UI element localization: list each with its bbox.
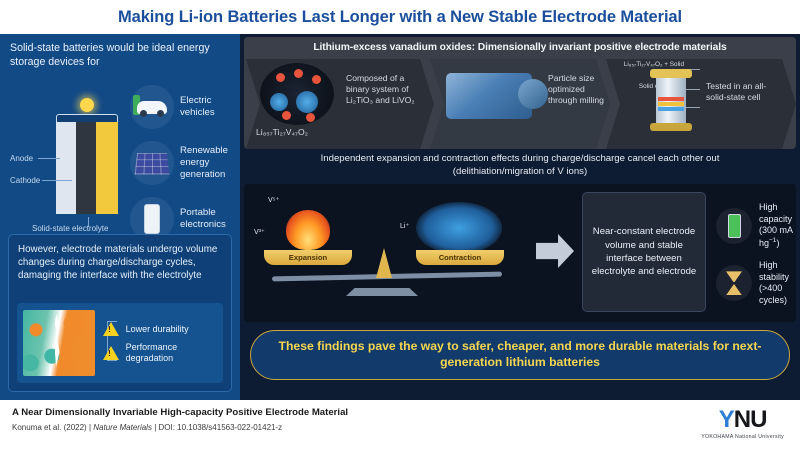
left-panel: Solid-state batteries would be ideal ene…	[0, 34, 240, 400]
ynu-logo-text: YNU	[701, 408, 784, 432]
contraction-structure-icon	[416, 202, 502, 254]
battery-electrolyte-layer	[76, 122, 96, 214]
benefit-value: (>400 cycles)	[759, 283, 796, 306]
anode-label: Anode	[10, 154, 33, 163]
ynu-logo-nu: NU	[734, 406, 767, 433]
anode-leader-line	[38, 158, 60, 159]
flow-arrow-icon	[536, 234, 574, 268]
lightbulb-icon	[80, 98, 94, 112]
footer: A Near Dimensionally Invariable High-cap…	[0, 400, 800, 450]
ynu-logo-subtitle: YOKOHAMA National University	[701, 434, 784, 440]
issue-item-performance-degradation: Performance degradation	[103, 342, 217, 364]
expansion-structure-icon	[286, 210, 330, 250]
flow-step-caption: Tested in an all-solid-state cell	[706, 81, 774, 103]
warning-triangle-icon	[103, 346, 119, 360]
scale-pan-expansion: Expansion	[264, 250, 352, 265]
battery-cathode-layer	[96, 122, 118, 214]
paper-title: A Near Dimensionally Invariable High-cap…	[12, 407, 788, 418]
problem-text: However, electrode materials undergo vol…	[18, 243, 222, 282]
left-panel-heading: Solid-state batteries would be ideal ene…	[10, 42, 230, 70]
battery-icon	[716, 208, 752, 244]
flow-step-milling: Particle size optimized through milling	[430, 59, 610, 149]
citation-journal: Nature Materials	[93, 423, 152, 432]
issue-label: Performance degradation	[126, 342, 217, 364]
infographic-stage: Solid-state batteries would be ideal ene…	[0, 34, 800, 400]
flow-step-cell-test: Li₈₅₇Ti₂₇V₄₇O₂ + Solid electrolyte Solid…	[606, 59, 796, 149]
cell-top-cap	[650, 69, 692, 78]
citation-line: Konuma et al. (2022) | Nature Materials …	[12, 423, 788, 432]
application-item-renewable-energy: Renewable energy generation	[130, 138, 240, 188]
mechanism-heading: Independent expansion and contraction ef…	[244, 153, 796, 179]
oxygen-atom-icon	[282, 111, 291, 120]
cell-bottom-cap	[650, 123, 692, 131]
cell-layer-stripe	[658, 97, 684, 101]
synthesis-band: Lithium-excess vanadium oxides: Dimensio…	[244, 37, 796, 149]
cell-layer-stripe	[658, 102, 684, 106]
warning-triangle-icon	[103, 322, 119, 336]
car-body-icon	[137, 101, 167, 114]
citation-separator: |	[154, 423, 156, 432]
ion-label-v5: V⁵⁺	[268, 196, 279, 205]
scale-base	[346, 288, 418, 296]
conclusion-banner: These findings pave the way to safer, ch…	[250, 330, 790, 380]
crack-icon	[55, 314, 60, 367]
flow-step-caption: Composed of a binary system of Li₂TiO₃ a…	[346, 73, 424, 107]
issue-list: Lower durability Performance degradation	[103, 316, 217, 370]
battery-body	[56, 122, 118, 214]
result-box: Near-constant electrode volume and stabl…	[582, 192, 706, 312]
citation-separator: |	[89, 423, 91, 432]
citation-doi[interactable]: DOI: 10.1038/s41563-022-01421-z	[159, 423, 283, 432]
application-list: Electric vehicles Renewable energy gener…	[130, 82, 240, 250]
vanadium-polyhedron-icon	[296, 91, 318, 113]
oxygen-atom-icon	[306, 113, 315, 122]
application-label: Renewable energy generation	[180, 145, 240, 181]
title-bar: Making Li-ion Batteries Last Longer with…	[0, 0, 800, 34]
ion-label-li: Li⁺	[400, 222, 409, 231]
cathode-label: Cathode	[10, 176, 40, 185]
application-item-electric-vehicles: Electric vehicles	[130, 82, 240, 132]
benefit-high-capacity: High capacity (300 mA hg−1)	[716, 202, 796, 250]
flow-step-composition: Li₈₅₇Ti₂₇V₄₇O₂ Composed of a binary syst…	[246, 59, 434, 149]
right-area: Lithium-excess vanadium oxides: Dimensio…	[240, 34, 800, 400]
problem-card: However, electrode materials undergo vol…	[8, 234, 232, 392]
vanadium-polyhedron-icon	[270, 93, 288, 111]
mechanism-panel: V⁵⁺ V³⁺ Li⁺ Expansion Contraction Near-c…	[244, 184, 796, 322]
ion-label-v3: V³⁺	[254, 228, 265, 237]
benefit-text: High stability (>400 cycles)	[759, 260, 796, 307]
citation-authors: Konuma et al. (2022)	[12, 423, 87, 432]
phone-body-icon	[144, 204, 160, 234]
issue-item-lower-durability: Lower durability	[103, 322, 217, 336]
mechanism-heading-line1: Independent expansion and contraction ef…	[244, 153, 796, 166]
ball-mill-icon	[446, 73, 532, 119]
application-label: Electric vehicles	[180, 95, 240, 119]
battery-anode-layer	[56, 122, 76, 214]
synthesis-flow: Li₈₅₇Ti₂₇V₄₇O₂ Composed of a binary syst…	[244, 59, 796, 149]
battery-fill-icon	[728, 214, 741, 238]
benefit-value-close: )	[776, 238, 779, 248]
degradation-illustration: Lower durability Performance degradation	[17, 303, 223, 383]
solar-panel-icon	[130, 141, 174, 185]
crystal-structure-icon	[260, 63, 334, 125]
oxygen-atom-icon	[276, 73, 285, 82]
cell-layer-stripe	[658, 107, 684, 111]
application-label: Portable electronics	[180, 207, 240, 231]
electrolyte-label: Solid-state electrolyte	[32, 224, 108, 233]
ynu-logo-y: Y	[719, 406, 734, 433]
hourglass-glass-icon	[726, 271, 742, 295]
benefit-value: (300 mA hg−1)	[759, 225, 796, 249]
page-title: Making Li-ion Batteries Last Longer with…	[118, 8, 682, 27]
hourglass-icon	[716, 265, 752, 301]
benefit-high-stability: High stability (>400 cycles)	[716, 260, 796, 307]
benefit-label: High stability	[759, 260, 796, 283]
mechanism-heading-line2: (delithiation/migration of V ions)	[244, 166, 796, 179]
scale-fulcrum	[376, 248, 392, 278]
sem-micrograph-image	[23, 310, 95, 376]
balance-scale-diagram: V⁵⁺ V³⁺ Li⁺ Expansion Contraction	[250, 188, 530, 318]
oxygen-atom-icon	[312, 75, 321, 84]
electric-car-icon	[130, 85, 174, 129]
scale-pan-contraction: Contraction	[416, 250, 504, 265]
oxygen-atom-icon	[294, 69, 303, 78]
issue-label: Lower durability	[126, 324, 189, 335]
ynu-logo: YNU YOKOHAMA National University	[701, 408, 784, 440]
pv-array-icon	[135, 153, 170, 174]
flow-step-caption: Particle size optimized through milling	[548, 73, 610, 107]
coin-cell-icon	[650, 69, 692, 131]
benefit-text: High capacity (300 mA hg−1)	[759, 202, 796, 250]
cathode-leader-line	[42, 180, 72, 181]
compound-formula: Li₈₅₇Ti₂₇V₄₇O₂	[256, 127, 338, 138]
synthesis-heading: Lithium-excess vanadium oxides: Dimensio…	[244, 37, 796, 53]
benefit-label: High capacity	[759, 202, 796, 225]
